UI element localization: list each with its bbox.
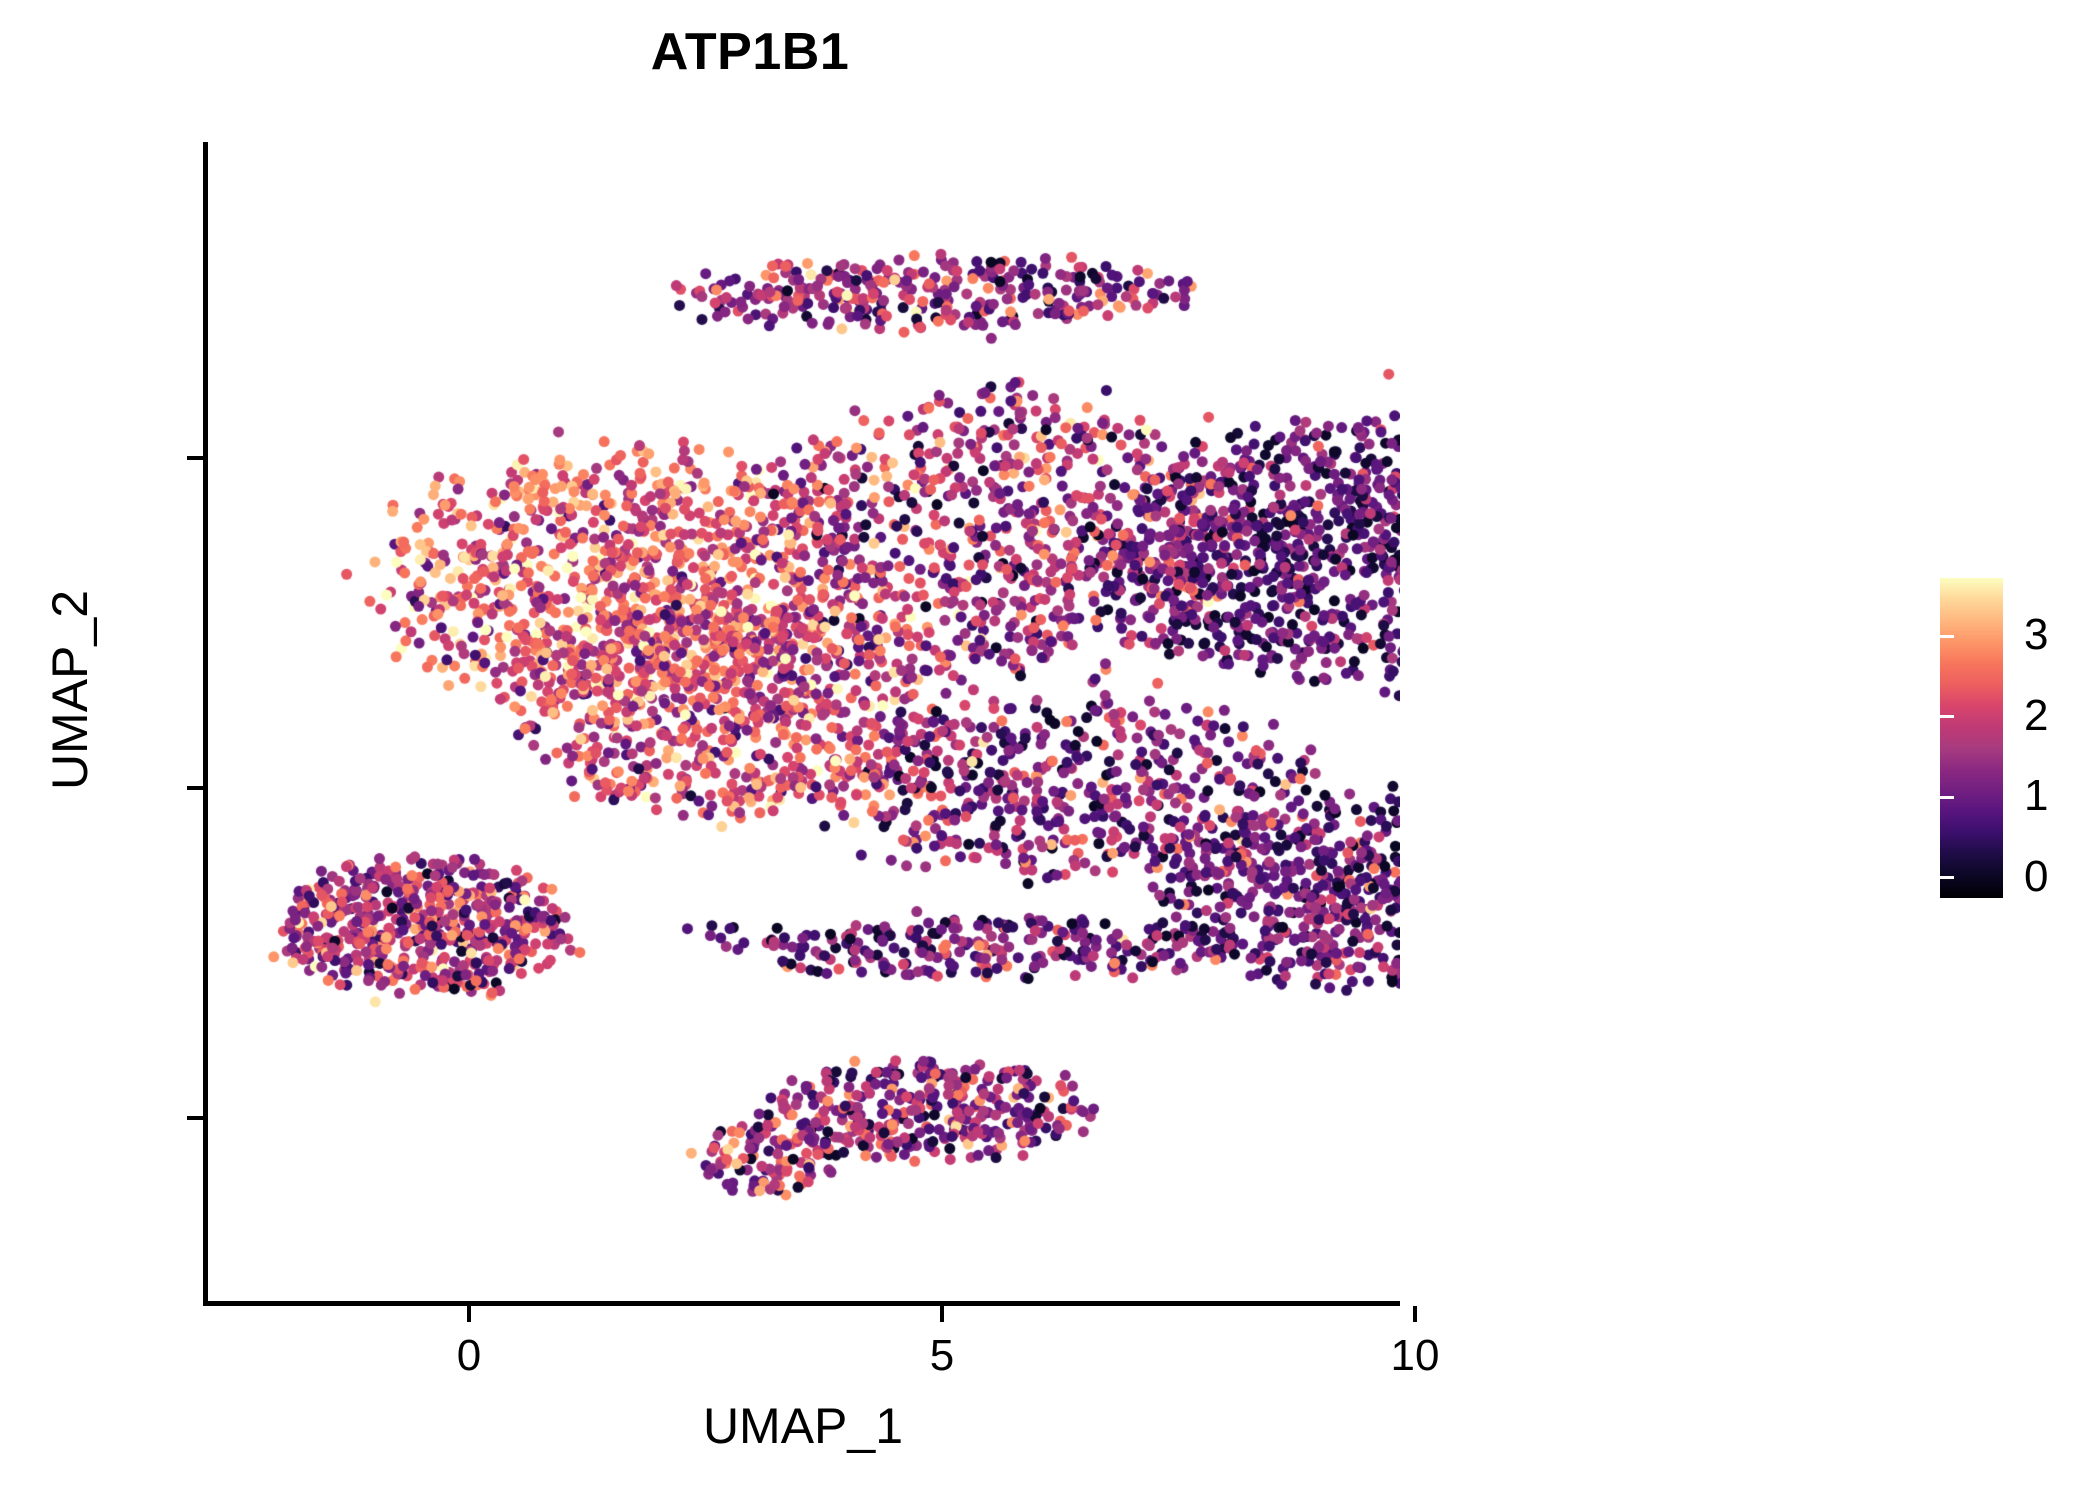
umap-feature-plot: ATP1B1 1050 0510 UMAP_1 UMAP_2 0123 xyxy=(0,0,2100,1500)
y-tick-mark xyxy=(187,1116,203,1120)
x-tick-label: 0 xyxy=(389,1334,549,1378)
colorbar-tick xyxy=(2086,635,2100,638)
colorbar-tick xyxy=(2086,876,2100,879)
x-axis-title: UMAP_1 xyxy=(206,1398,1400,1454)
colorbar-tick xyxy=(1940,715,1954,718)
x-tick-mark xyxy=(1413,1306,1417,1322)
x-tick-mark xyxy=(940,1306,944,1322)
x-axis-line xyxy=(203,1301,1400,1306)
color-legend: 0123 xyxy=(1940,578,2100,918)
plot-panel xyxy=(206,142,1400,1303)
colorbar-tick xyxy=(2086,715,2100,718)
colorbar-tick xyxy=(1940,796,1954,799)
x-tick-label: 5 xyxy=(862,1334,1022,1378)
colorbar-label: 3 xyxy=(2024,613,2048,657)
x-tick-mark xyxy=(467,1306,471,1322)
page-title: ATP1B1 xyxy=(0,22,1500,82)
colorbar-tick xyxy=(2086,796,2100,799)
colorbar-label: 1 xyxy=(2024,774,2048,818)
scatter-points-layer xyxy=(206,142,1400,1303)
x-tick-label: 10 xyxy=(1335,1334,1495,1378)
colorbar-tick xyxy=(1940,635,1954,638)
colorbar-label: 2 xyxy=(2024,694,2048,738)
colorbar-label: 0 xyxy=(2024,855,2048,899)
colorbar-gradient xyxy=(1940,578,2003,898)
y-tick-mark xyxy=(187,456,203,460)
y-tick-mark xyxy=(187,786,203,790)
y-axis-title: UMAP_2 xyxy=(42,390,98,990)
y-axis-line xyxy=(203,142,208,1306)
colorbar-tick xyxy=(1940,876,1954,879)
